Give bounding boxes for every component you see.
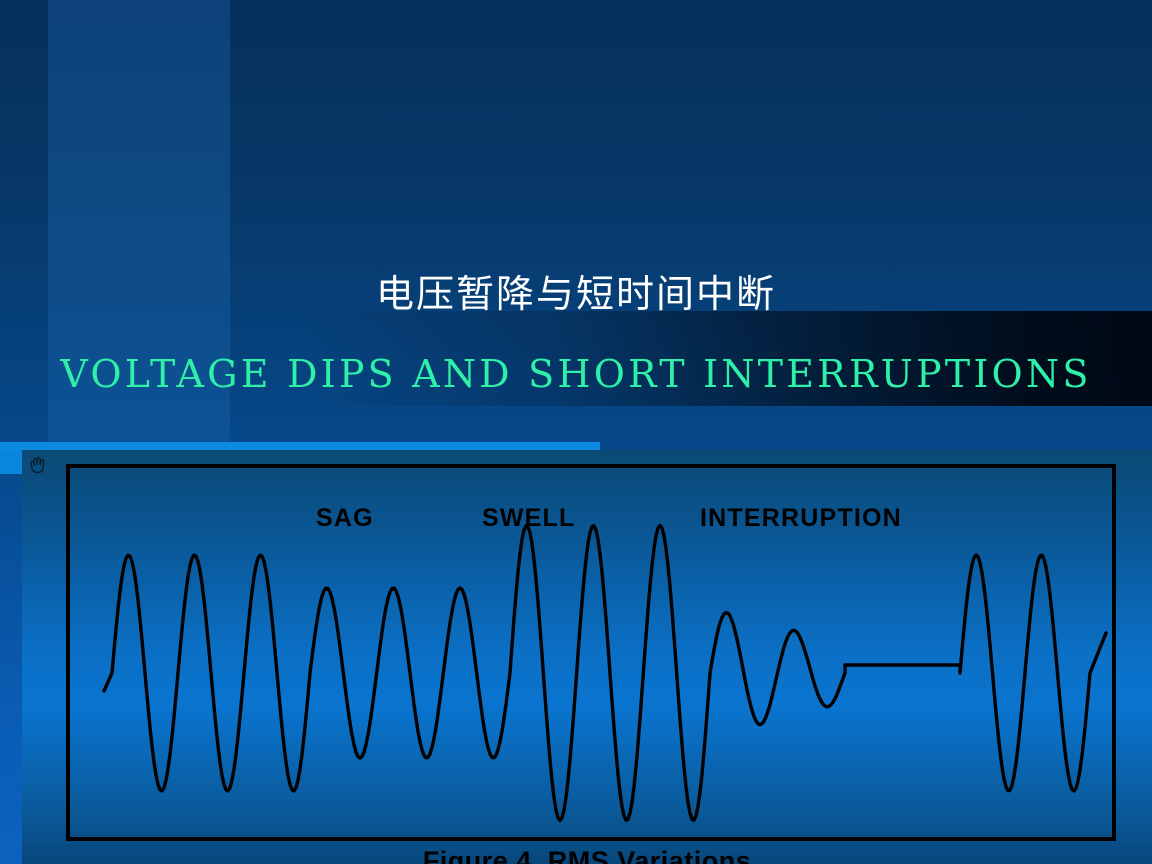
- waveform-polyline: [104, 526, 1106, 821]
- page-title-chinese: 电压暂降与短时间中断: [0, 272, 1152, 316]
- waveform-trace: [70, 468, 1120, 845]
- hand-cursor-icon: [26, 453, 56, 483]
- figure-caption: Figure 4. RMS Variations: [22, 846, 1152, 864]
- waveform-plot-box: SAG SWELL INTERRUPTION: [66, 464, 1116, 841]
- figure-image-panel: SAG SWELL INTERRUPTION Figure 4. RMS Var…: [22, 450, 1152, 864]
- accent-bar-horizontal: [0, 442, 600, 450]
- presentation-slide: 电压暂降与短时间中断 VOLTAGE DIPS AND SHORT INTERR…: [0, 0, 1152, 864]
- accent-bar-left-cap: [0, 442, 22, 474]
- page-title-english: VOLTAGE DIPS AND SHORT INTERRUPTIONS: [0, 352, 1152, 396]
